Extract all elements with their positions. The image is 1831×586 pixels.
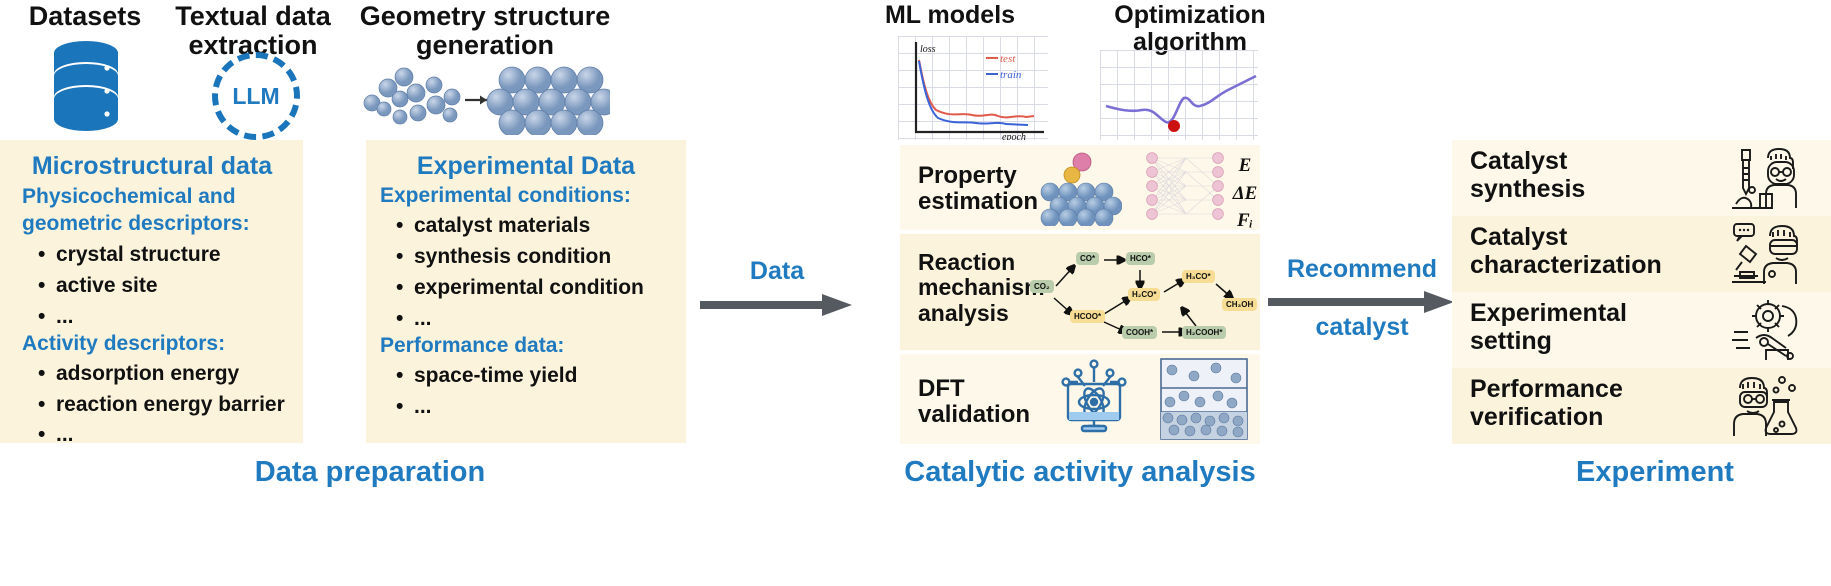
adsorbate-slab-icon [1040,150,1122,226]
list-item: • ... [38,305,74,329]
scientist-microscope-icon [1730,222,1802,288]
experimental-data-title: Experimental Data [366,152,686,181]
reaction-node: CO* [1076,252,1099,265]
bullet-icon: • [396,364,404,388]
neural-network-icon [1140,150,1230,228]
data-arrow-label: Data [712,258,842,284]
scientist-flask-icon [1730,374,1802,440]
reaction-node: CH₃OH [1222,298,1257,311]
svg-text:epoch: epoch [1002,132,1026,140]
experimental-setting-label: Experimental setting [1470,300,1627,355]
llm-circle-icon: LLM [212,52,296,136]
bullet-icon: • [38,423,46,447]
reaction-node: CO₂ [1030,280,1054,293]
reaction-node: H₂COOH* [1182,326,1226,339]
svg-text:test: test [1000,53,1016,65]
datasets-title: Datasets [10,2,160,31]
list-item: • catalyst materials [396,214,590,238]
experimental-conditions-heading: Experimental conditions: [380,184,631,208]
reaction-node: H₃CO* [1182,270,1215,283]
list-item: • ... [38,423,74,447]
recommend-catalyst-label: Recommend [1272,256,1452,282]
list-item: • synthesis condition [396,245,611,269]
reaction-network-diagram: CO₂ CO* HCO* H₂CO* H₃CO* HCOO* COOH* H₂C… [1030,240,1258,348]
database-icon [52,40,120,132]
list-item: • active site [38,274,158,298]
recommend-arrow-icon [1268,289,1454,315]
reaction-mechanism-label: Reaction mechanism analysis [918,250,1045,326]
geometry-generation-title: Geometry structure generation [345,2,625,60]
bullet-icon: • [396,214,404,238]
reaction-node: COOH* [1122,326,1157,339]
optimization-chart [1100,50,1258,140]
microstructural-data-title: Microstructural data [4,152,300,181]
bullet-icon: • [396,245,404,269]
optimization-algorithm-title: Optimization algorithm [1090,2,1290,56]
stage-label-catalytic-activity: Catalytic activity analysis [770,456,1390,489]
bullet-icon: • [396,395,404,419]
physicochemical-heading: Physicochemical and geometric descriptor… [22,184,304,238]
list-item: • ... [396,395,432,419]
list-item: • reaction energy barrier [38,393,285,417]
performance-data-heading: Performance data: [380,334,564,358]
ml-models-title: ML models [855,2,1045,29]
svg-text:loss: loss [920,44,936,55]
reaction-node: HCO* [1126,252,1155,265]
dft-computer-atom-icon [1052,358,1136,440]
data-arrow-icon [700,292,852,318]
reaction-node: HCOO* [1070,310,1105,323]
list-item: • ... [396,307,432,331]
bullet-icon: • [38,362,46,386]
stage-label-experiment: Experiment [1490,456,1820,489]
list-item: • adsorption energy [38,362,239,386]
list-item: • experimental condition [396,276,644,300]
bullet-icon: • [38,305,46,329]
performance-verification-label: Performance verification [1470,376,1623,431]
dft-validation-label: DFT validation [918,376,1030,429]
recommend-catalyst-label-2: catalyst [1272,314,1452,340]
atom-cluster-icon [360,55,610,135]
bullet-icon: • [38,243,46,267]
property-estimation-label: Property estimation [918,163,1038,216]
simulation-box-icon [1160,358,1248,440]
list-item: • crystal structure [38,243,221,267]
bullet-icon: • [396,276,404,300]
loss-chart: test train loss epoch [898,36,1048,140]
property-outputs: E ΔE Fᵢ [1228,152,1262,235]
llm-label: LLM [232,83,279,110]
list-item: • space-time yield [396,364,577,388]
bullet-icon: • [38,274,46,298]
catalyst-synthesis-label: Catalyst synthesis [1470,148,1585,203]
gear-hand-icon [1730,298,1802,364]
activity-descriptors-heading: Activity descriptors: [22,332,225,356]
bullet-icon: • [38,393,46,417]
scientist-pipette-icon [1730,146,1802,212]
stage-label-data-preparation: Data preparation [60,456,680,489]
reaction-node: H₂CO* [1128,288,1160,301]
svg-text:train: train [1000,69,1022,81]
catalyst-characterization-label: Catalyst characterization [1470,224,1662,279]
bullet-icon: • [396,307,404,331]
